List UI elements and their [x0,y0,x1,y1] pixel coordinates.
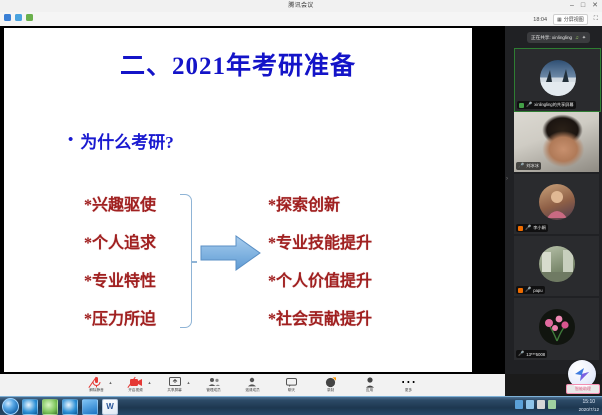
list-item: *专业技能提升 [268,229,372,253]
audio-wave-icon: ♫ [575,35,579,41]
mic-muted-icon: 🎤 [518,352,524,357]
participant-name-bar: 🎤 李小娟 [516,224,548,232]
meeting-status-icons [4,14,33,21]
participant-name-bar: 🎤 刘冰冰 [516,162,541,170]
control-label: 共享屏幕 [167,388,181,393]
participant-name: xinlingling的共享屏幕 [534,102,573,108]
right-outcomes-column: *探索创新 *专业技能提升 *个人价值提升 *社会贡献提升 [268,191,372,329]
shield-icon[interactable] [4,14,11,21]
participant-tile-3[interactable]: 🎤 papu [514,236,599,296]
close-icon[interactable]: ✕ [592,1,598,10]
control-label: 聊天 [288,388,295,393]
window-title: 腾讯会议 [0,1,602,11]
sidebar-scroll-arrow-icon[interactable]: › [506,176,510,216]
participant-name-bar: 🎤 xinlingling的共享屏幕 [517,101,576,109]
list-item: *个人追求 [84,229,156,253]
participant-name-bar: 🎤 papu [516,286,545,294]
presentation-slide: 二、2021年考研准备 • 为什么考研? *兴趣驱使 *个人追求 *专业特性 *… [4,28,472,372]
camera-icon [519,103,524,108]
participant-tile-2[interactable]: 🎤 李小娟 [514,174,599,234]
control-label: 解除静音 [89,388,103,393]
slide-bullet-text: 为什么考研? [80,128,174,153]
control-share-screen[interactable]: 共享屏幕 ▲ [160,377,190,393]
chevron-up-icon[interactable]: ▲ [109,380,113,385]
avatar [540,60,576,96]
fullscreen-icon[interactable]: ⛶ [594,16,598,23]
list-item: *专业特性 [84,267,156,291]
participant-name: papu [533,288,542,293]
control-invite[interactable]: 邀请成员 [238,377,268,393]
taskbar-item-internet-explorer-2[interactable] [62,399,78,415]
split-view-icon: ▦ [557,17,562,23]
clock-date: 2020/7/12 [579,406,599,413]
participant-sidebar: 正在共享: xinlingling ♫ ✦ › 🎤 xinlingling的共享… [505,26,602,374]
invite-icon [247,377,258,387]
meeting-control-bar: 解除静音 ▲ 开启视频 ▲ 共享屏幕 ▲ 管理成员 [0,374,505,396]
taskbar-clock[interactable]: 15:10 2020/7/12 [579,399,599,413]
meeting-top-bar: 18:04 ▦ 分屏视图 ⛶ [0,12,602,27]
control-label: 邀请成员 [245,388,259,393]
mic-icon: 🎤 [526,103,532,108]
taskbar-item-tencent-meeting[interactable] [82,399,98,415]
sharing-status-badge: 正在共享: xinlingling ♫ ✦ [527,32,590,43]
floating-assistant[interactable]: 智能助理 [566,360,600,394]
chevron-up-icon[interactable]: ▲ [187,380,191,385]
meeting-time: 18:04 [533,17,547,23]
list-item: *社会贡献提升 [268,305,372,329]
list-item: *个人价值提升 [268,267,372,291]
taskbar-item-internet-explorer[interactable] [22,399,38,415]
taskbar-item-powerpoint[interactable] [102,399,118,415]
bullet-dot-icon: • [68,133,73,148]
start-button[interactable] [2,398,19,415]
camera-off-icon [518,226,523,231]
control-label: 应用 [366,388,373,393]
control-start-video[interactable]: 开启视频 ▲ [121,377,151,393]
control-record[interactable]: 录制 [316,377,346,393]
slide-title: 二、2021年考研准备 [4,46,472,82]
participant-name: 李小娟 [533,225,546,231]
control-apps[interactable]: 应用 [355,377,385,393]
shared-screen-stage[interactable]: 二、2021年考研准备 • 为什么考研? *兴趣驱使 *个人追求 *专业特性 *… [0,26,505,374]
chat-icon [286,377,297,387]
assistant-label: 智能助理 [566,384,600,394]
safe-icon[interactable] [515,400,523,409]
list-item: *探索创新 [268,191,372,215]
window-buttons: – □ ✕ [570,1,598,10]
more-icon: ⋯ [401,377,417,387]
mic-muted-icon: 🎤 [525,226,531,231]
maximize-icon[interactable]: □ [581,1,585,10]
control-manage-members[interactable]: 管理成员 [199,377,229,393]
taskbar-item-msn-messenger[interactable] [42,399,58,415]
control-chat[interactable]: 聊天 [277,377,307,393]
apps-icon [365,377,375,387]
lock-icon[interactable] [15,14,22,21]
participant-tile-1[interactable]: 🎤 刘冰冰 [514,112,599,172]
camera-off-icon [518,288,523,293]
members-icon [208,377,220,387]
split-view-label: 分屏视图 [564,16,584,23]
volume-icon[interactable] [537,400,545,409]
left-reasons-column: *兴趣驱使 *个人追求 *专业特性 *压力所迫 [84,191,156,329]
avatar [539,184,575,220]
chevron-up-icon[interactable]: ▲ [148,380,152,385]
list-item: *兴趣驱使 [84,191,156,215]
participant-name: 刘冰冰 [526,163,539,169]
meeting-top-right: 18:04 ▦ 分屏视图 ⛶ [533,14,598,25]
share-screen-icon [169,377,181,387]
curly-brace-shape [180,194,192,328]
participant-name: 13***5008 [526,352,545,357]
slide-bullet: • 为什么考研? [68,128,174,153]
pin-icon[interactable]: ✦ [582,35,586,41]
record-icon [325,377,336,387]
sharing-status-label: 正在共享: xinlingling [531,35,572,41]
control-label: 开启视频 [128,388,142,393]
net-icon[interactable] [526,400,534,409]
mic-muted-icon: 🎤 [525,288,531,293]
participant-tile-0[interactable]: 🎤 xinlingling的共享屏幕 [514,48,601,112]
control-label: 管理成员 [206,388,220,393]
clock-time: 15:10 [579,399,599,406]
taskbar-apps [22,399,118,415]
control-label: 录制 [327,388,334,393]
network-icon[interactable] [26,14,33,21]
avatar [539,246,575,282]
control-label: 更多 [405,388,412,393]
participant-tile-4[interactable]: 🎤 13***5008 [514,298,599,360]
input-icon[interactable] [548,400,556,409]
list-item: *压力所迫 [84,305,156,329]
participant-name-bar: 🎤 13***5008 [516,350,547,358]
windows-taskbar: 15:10 2020/7/12 [0,396,602,415]
avatar [539,309,575,345]
right-arrow-icon [200,233,262,273]
system-tray [515,400,556,409]
mic-muted-icon: 🎤 [518,164,524,169]
control-more[interactable]: ⋯ 更多 [394,377,424,393]
split-view-button[interactable]: ▦ 分屏视图 [553,14,588,25]
minimize-icon[interactable]: – [570,1,574,10]
control-unmute[interactable]: 解除静音 ▲ [82,377,112,393]
